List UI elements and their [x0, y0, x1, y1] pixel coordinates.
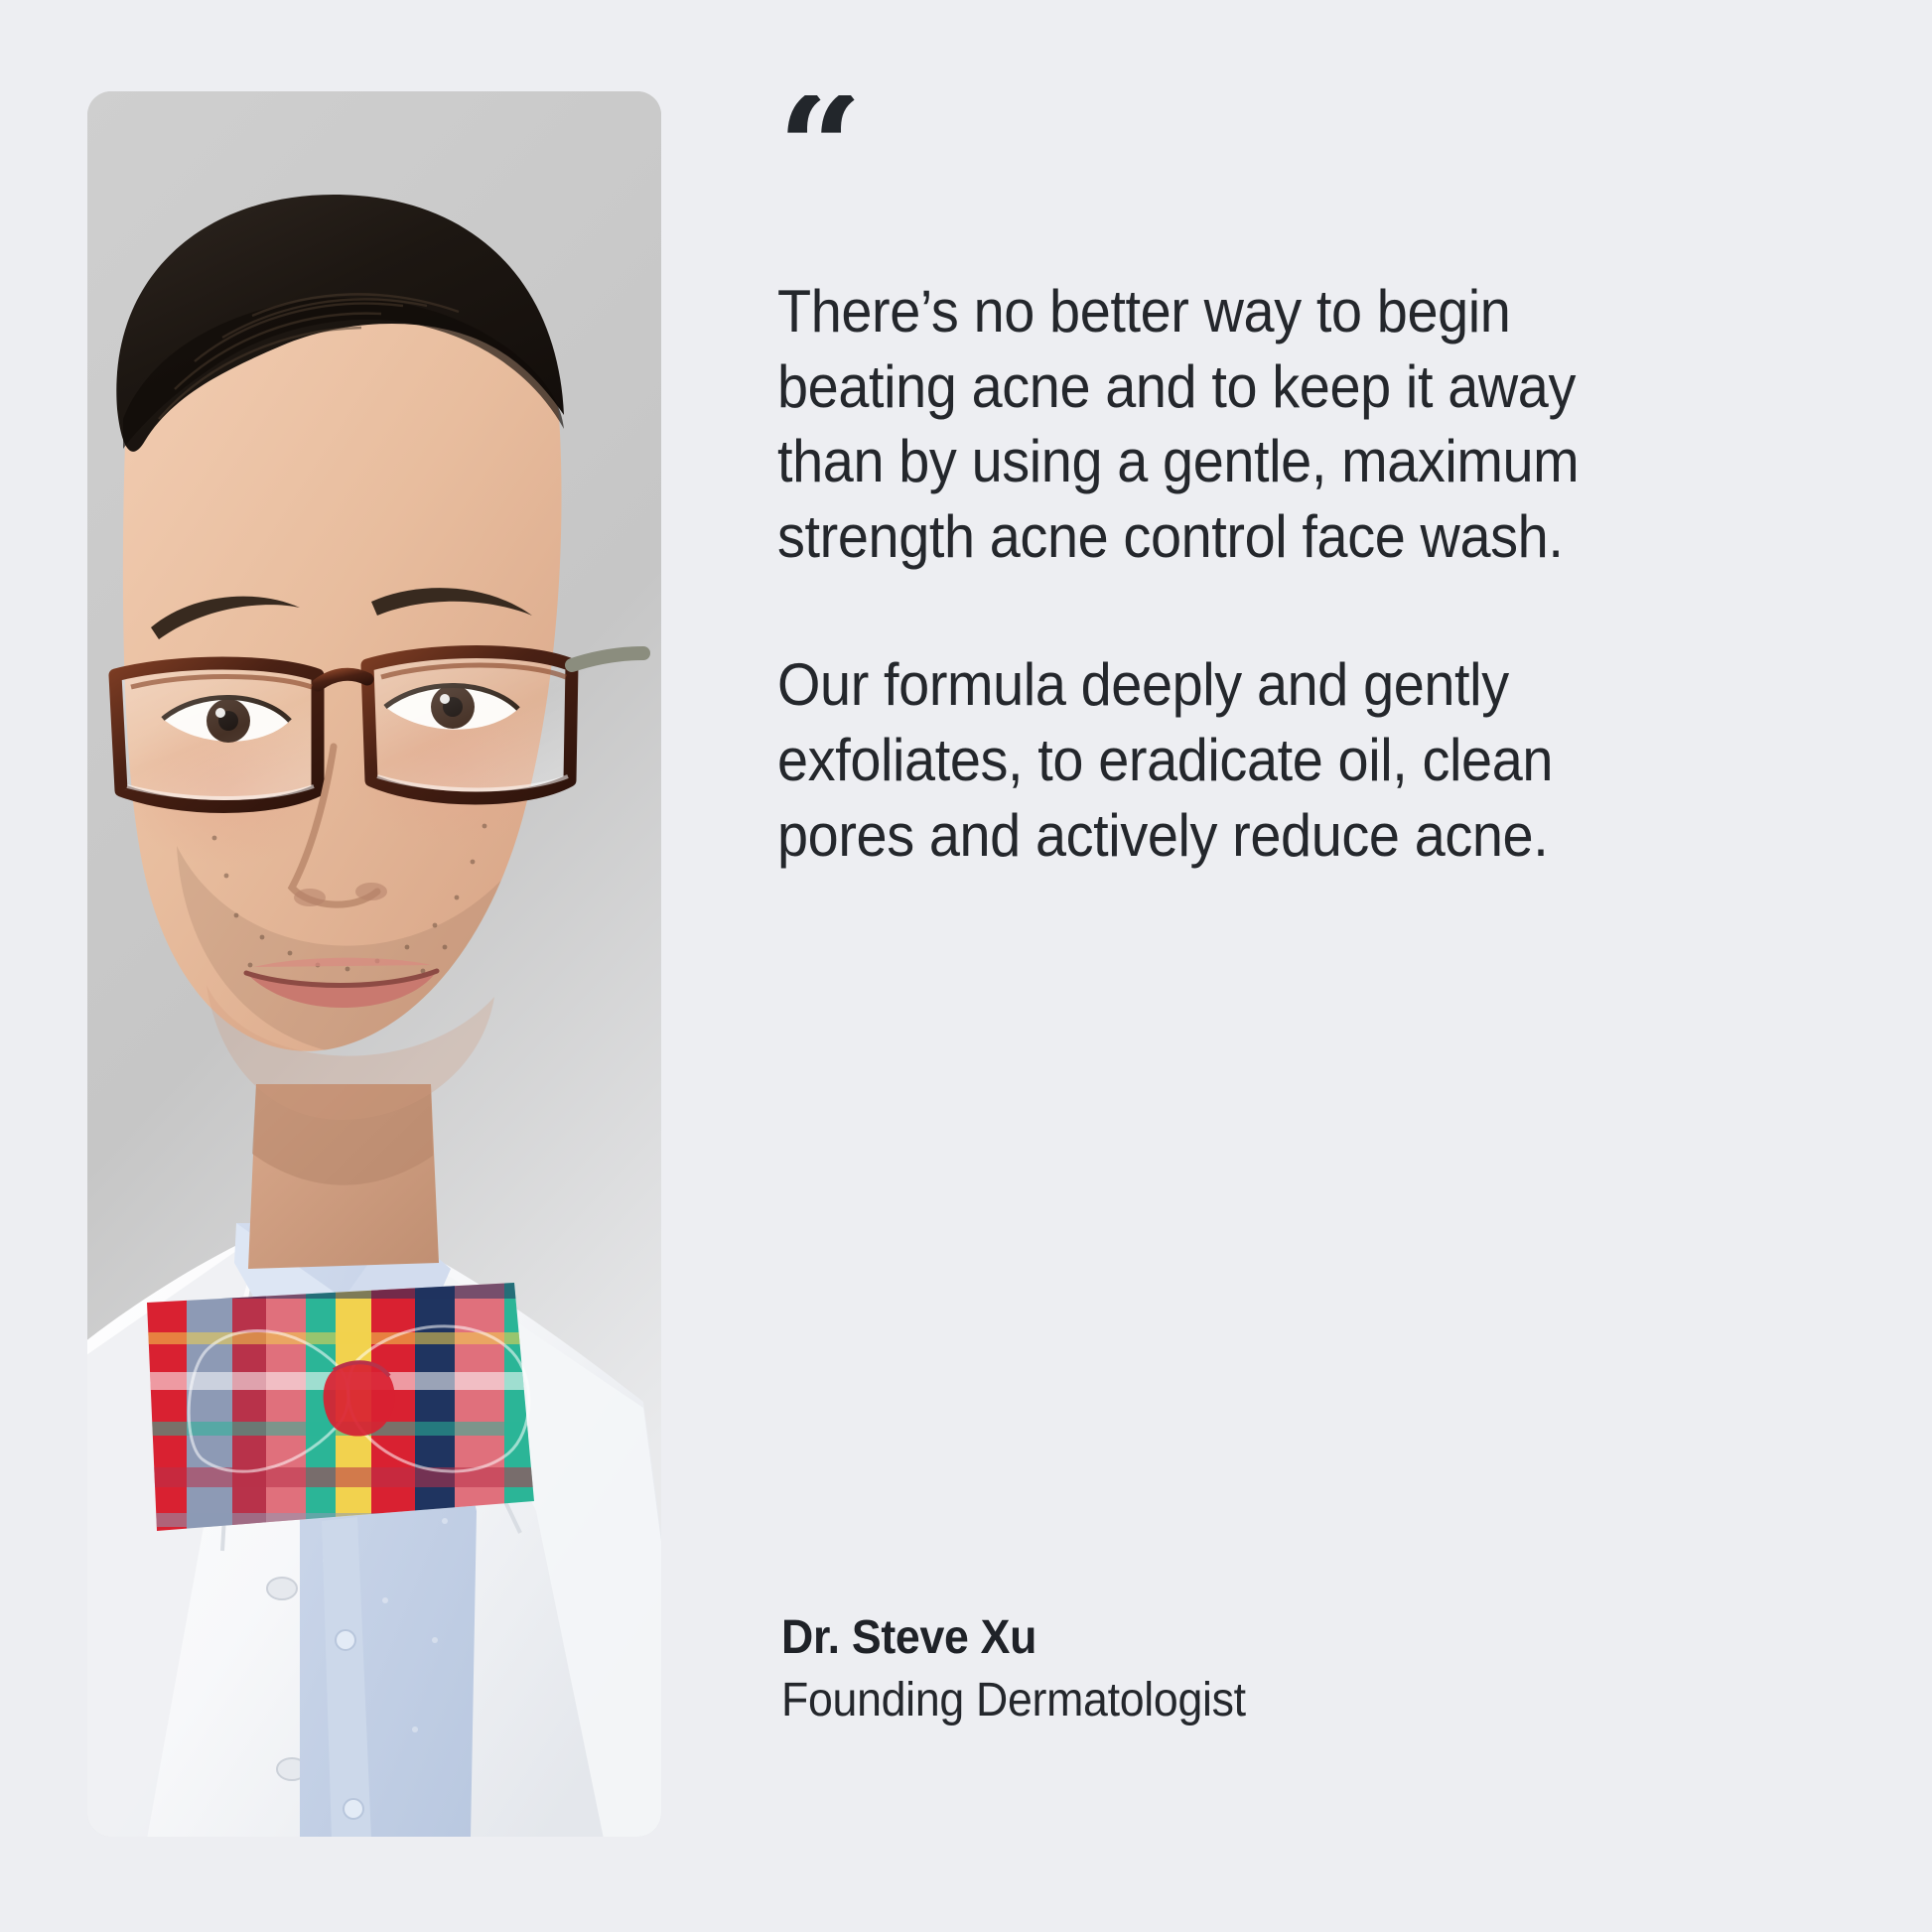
shirt-button [344, 1799, 363, 1819]
quote-column: “ There’s no better way to begin beating… [777, 95, 1730, 1841]
coat-button [267, 1578, 297, 1599]
quote-paragraph-1: There’s no better way to begin beating a… [777, 274, 1641, 574]
open-quote-icon: “ [777, 95, 1730, 187]
portrait-image [87, 91, 661, 1837]
portrait-illustration [87, 91, 661, 1837]
glasses [115, 652, 643, 807]
quote-text: There’s no better way to begin beating a… [777, 274, 1706, 873]
author-role: Founding Dermatologist [781, 1669, 1246, 1731]
quote-paragraph-2: Our formula deeply and gently exfoliates… [777, 647, 1641, 873]
shirt-button [336, 1630, 355, 1650]
attribution: Dr. Steve Xu Founding Dermatologist [781, 1606, 1246, 1732]
testimonial-card: “ There’s no better way to begin beating… [0, 0, 1932, 1932]
author-name: Dr. Steve Xu [781, 1606, 1246, 1669]
